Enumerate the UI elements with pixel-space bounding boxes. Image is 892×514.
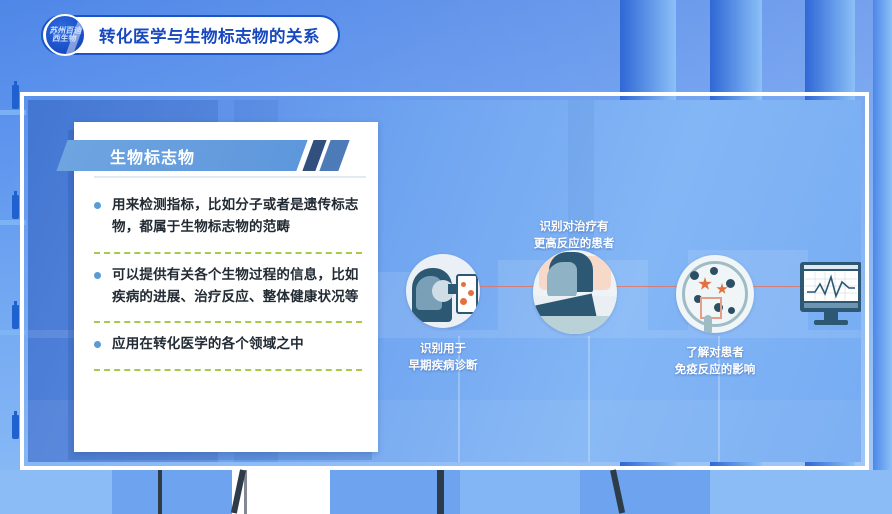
caption-immune-response: 了解对患者 免疫反应的影响 (640, 344, 790, 377)
caption-line-1: 识别对治疗有 (504, 218, 644, 235)
ecg-waveform-icon (805, 272, 857, 300)
below-frame-panel (460, 470, 580, 514)
below-frame-panel (0, 470, 112, 514)
caption-line-2: 免疫反应的影响 (640, 361, 790, 378)
reagent-bottle-icon (12, 305, 19, 329)
node-monitor-icon (800, 262, 861, 326)
bullet-dot-icon (94, 341, 101, 348)
below-frame-panel (710, 470, 892, 514)
reagent-bottle-icon (12, 195, 19, 219)
node-immune-response-icon (676, 255, 754, 333)
list-item: 用来检测指标，比如分子或者是遗传标志物，都属于生物标志物的范畴 (92, 184, 364, 250)
node-early-diagnosis-icon (406, 254, 480, 328)
easel-leg-far-right (244, 470, 247, 514)
caption-line-2: 早期疾病诊断 (384, 357, 502, 374)
node-treatment-response-icon (533, 250, 617, 334)
caption-early-diagnosis: 识别用于 早期疾病诊断 (384, 340, 502, 373)
bg-stripe-4 (873, 0, 892, 514)
bullet-list: 用来检测指标，比如分子或者是遗传标志物，都属于生物标志物的范畴 可以提供有关各个… (92, 184, 364, 371)
card-title-rule (94, 176, 366, 178)
caption-line-1: 了解对患者 (640, 344, 790, 361)
list-item-text: 应用在转化医学的各个领域之中 (112, 334, 360, 356)
list-item: 可以提供有关各个生物过程的信息，比如疾病的进展、治疗反应、整体健康状况等 (92, 254, 364, 320)
below-frame-panel (112, 470, 232, 514)
card-title: 生物标志物 (110, 142, 330, 170)
page-title: 转化医学与生物标志物的关系 (99, 23, 320, 47)
reagent-bottle-icon (12, 415, 19, 439)
brand-logo-icon: 苏州百迪西生物 (44, 14, 86, 56)
bullet-dot-icon (94, 202, 101, 209)
list-item: 应用在转化医学的各个领域之中 (92, 323, 364, 367)
easel-leg-center (437, 470, 444, 514)
list-item-text: 用来检测指标，比如分子或者是遗传标志物，都属于生物标志物的范畴 (112, 195, 360, 239)
list-item-text: 可以提供有关各个生物过程的信息，比如疾病的进展、治疗反应、整体健康状况等 (112, 265, 360, 309)
list-divider (94, 369, 362, 371)
logo-wordmark: 苏州百迪西生物 (44, 16, 86, 54)
bullet-dot-icon (94, 272, 101, 279)
reagent-bottle-icon (12, 85, 19, 109)
below-frame-panel (580, 470, 710, 514)
caption-treatment-response: 识别对治疗有 更高反应的患者 (504, 218, 644, 251)
biomarker-card: 生物标志物 用来检测指标，比如分子或者是遗传标志物，都属于生物标志物的范畴 可以… (74, 122, 378, 452)
easel-leg-far-left (158, 470, 162, 514)
slide-canvas: 转化医学与生物标志物的关系 苏州百迪西生物 (0, 0, 892, 514)
caption-line-2: 更高反应的患者 (504, 235, 644, 252)
caption-line-1: 识别用于 (384, 340, 502, 357)
